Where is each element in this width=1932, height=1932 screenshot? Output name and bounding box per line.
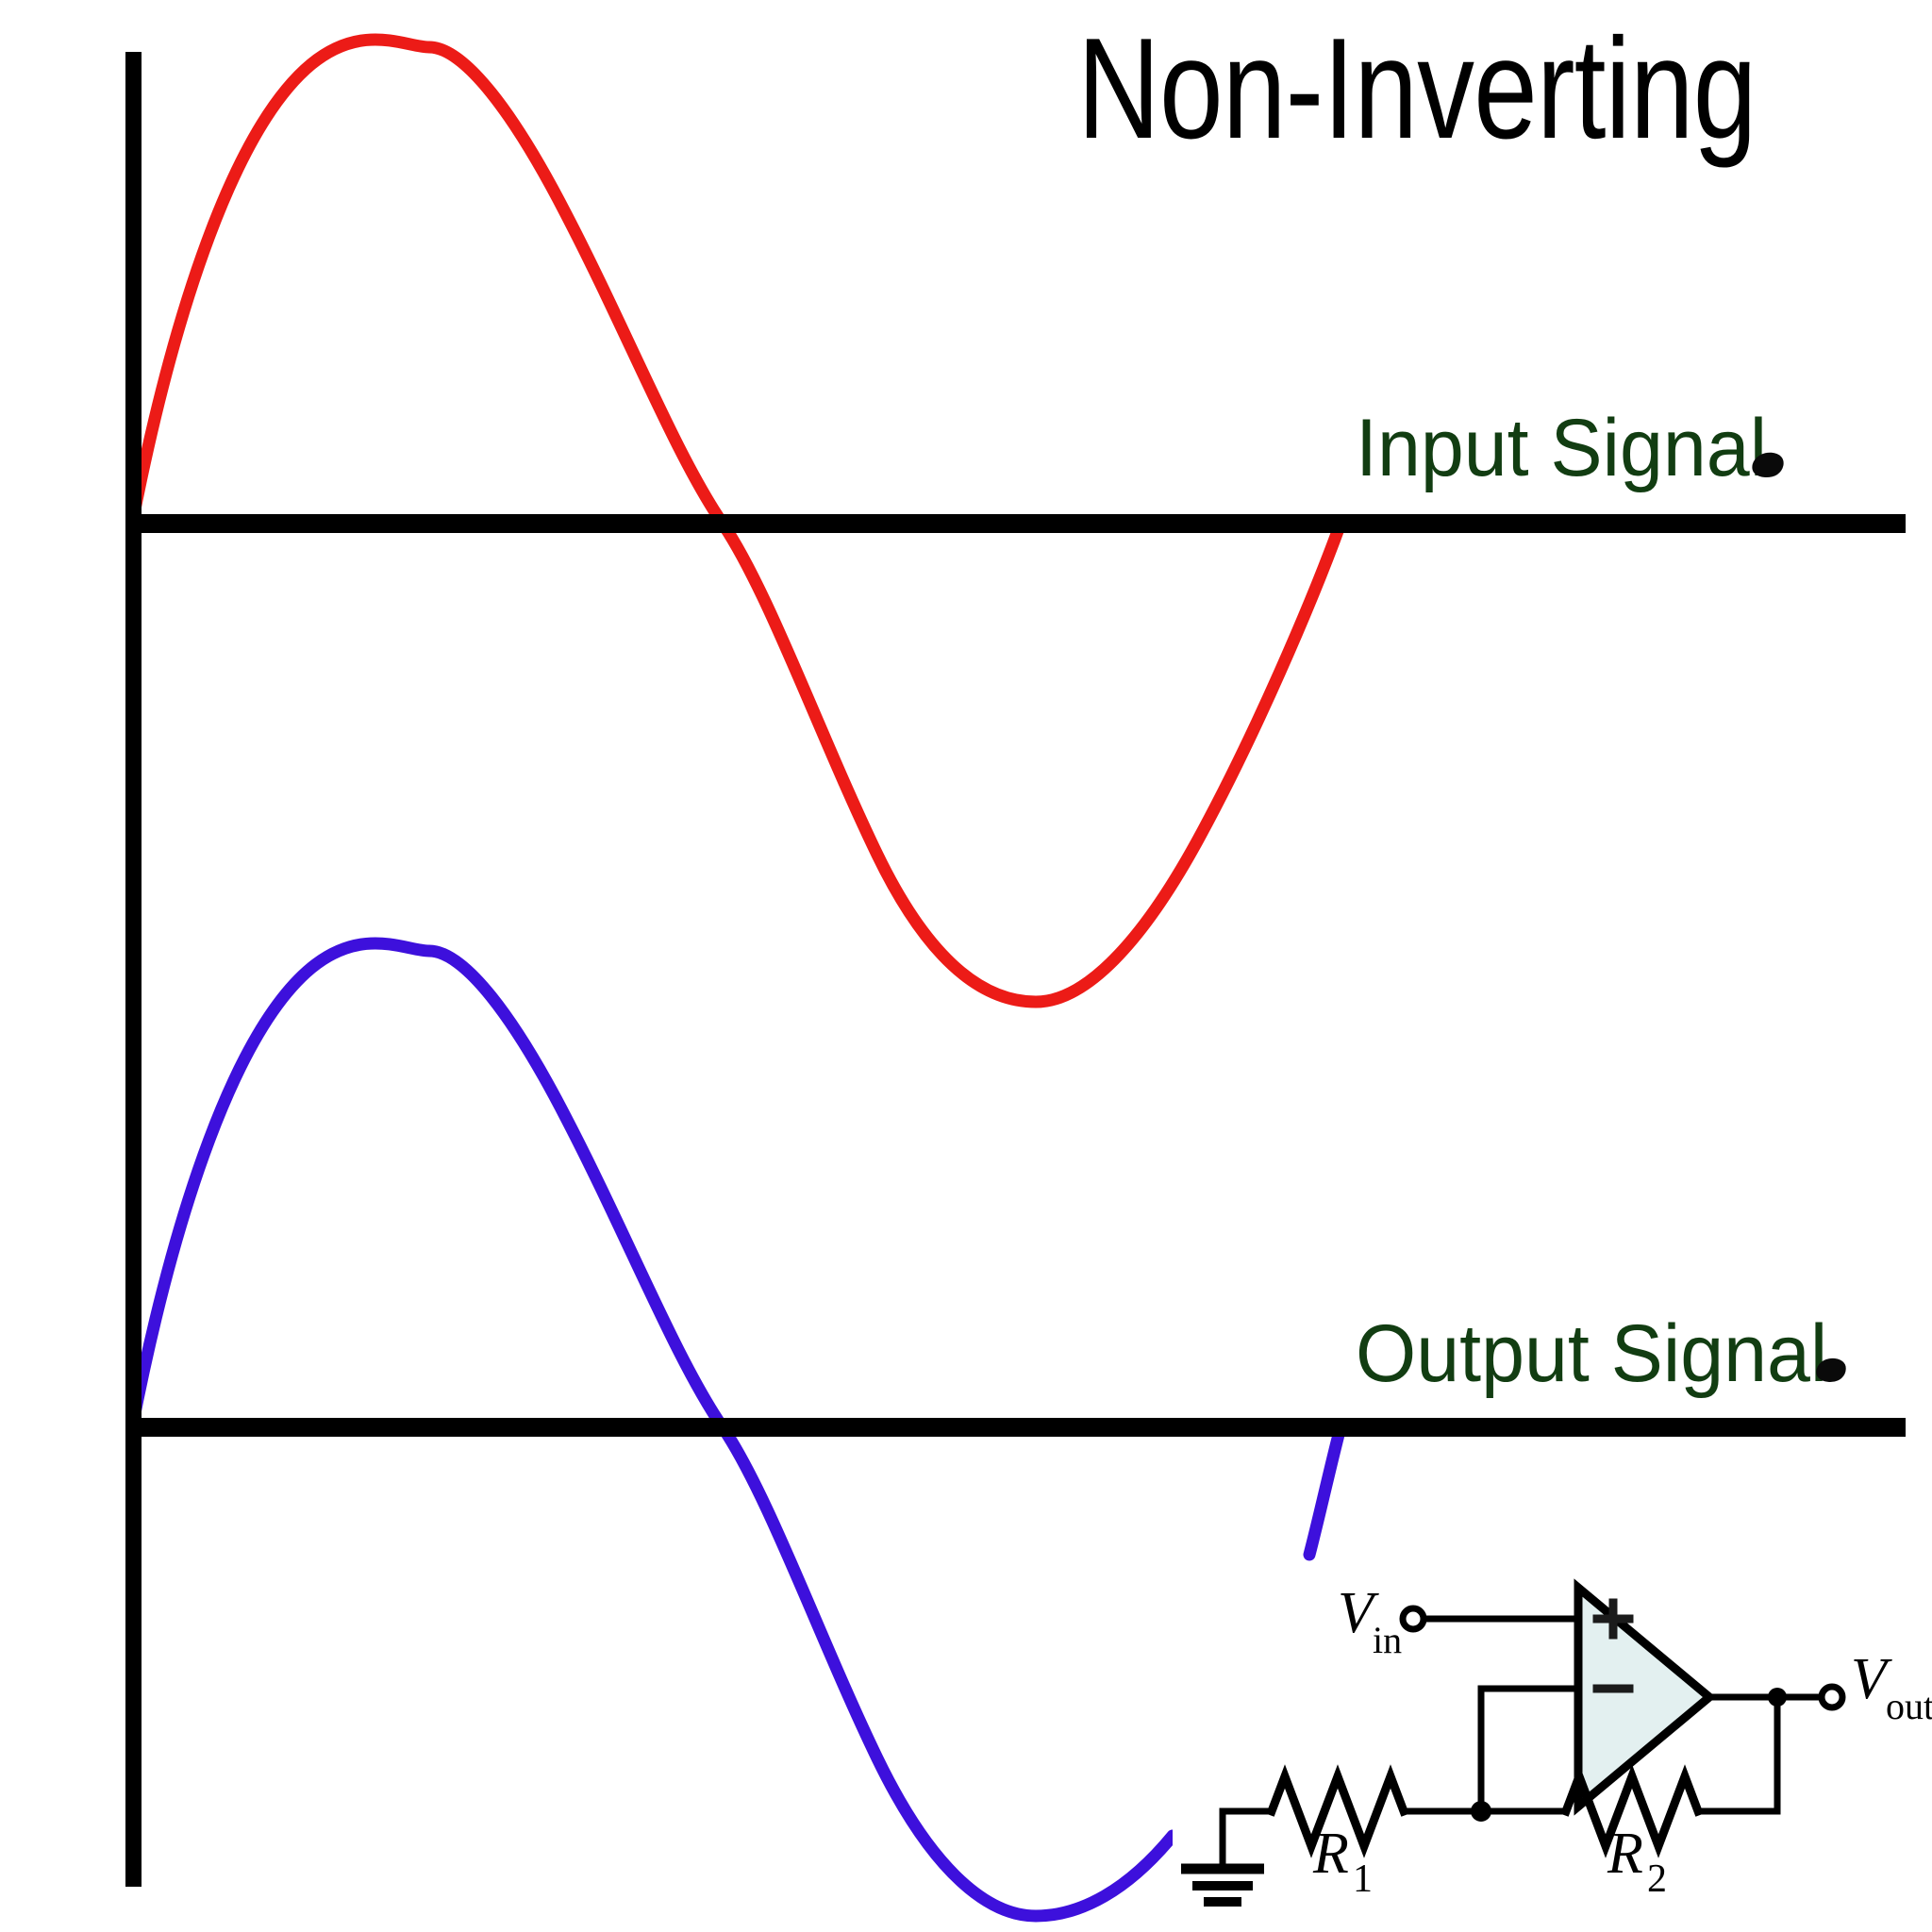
- opamp-circuit-diagram: V in V out R 1 R 2: [0, 0, 1932, 1932]
- ground-symbol: [1181, 1869, 1264, 1902]
- r2-subscript: 2: [1647, 1857, 1667, 1901]
- vout-subscript: out: [1886, 1685, 1932, 1727]
- figure-canvas: V in V out R 1 R 2 Non-Inverting Input S…: [0, 0, 1932, 1932]
- output-signal-label: Output Signal: [1356, 1313, 1827, 1394]
- r1-subscript: 1: [1353, 1857, 1373, 1901]
- r1-label: R: [1312, 1822, 1349, 1886]
- r2-label: R: [1607, 1822, 1643, 1886]
- input-signal-label: Input Signal: [1356, 408, 1767, 489]
- vin-subscript: in: [1373, 1619, 1402, 1661]
- vout-terminal-node: [1822, 1687, 1842, 1707]
- page-title: Non-Inverting: [1077, 17, 1757, 160]
